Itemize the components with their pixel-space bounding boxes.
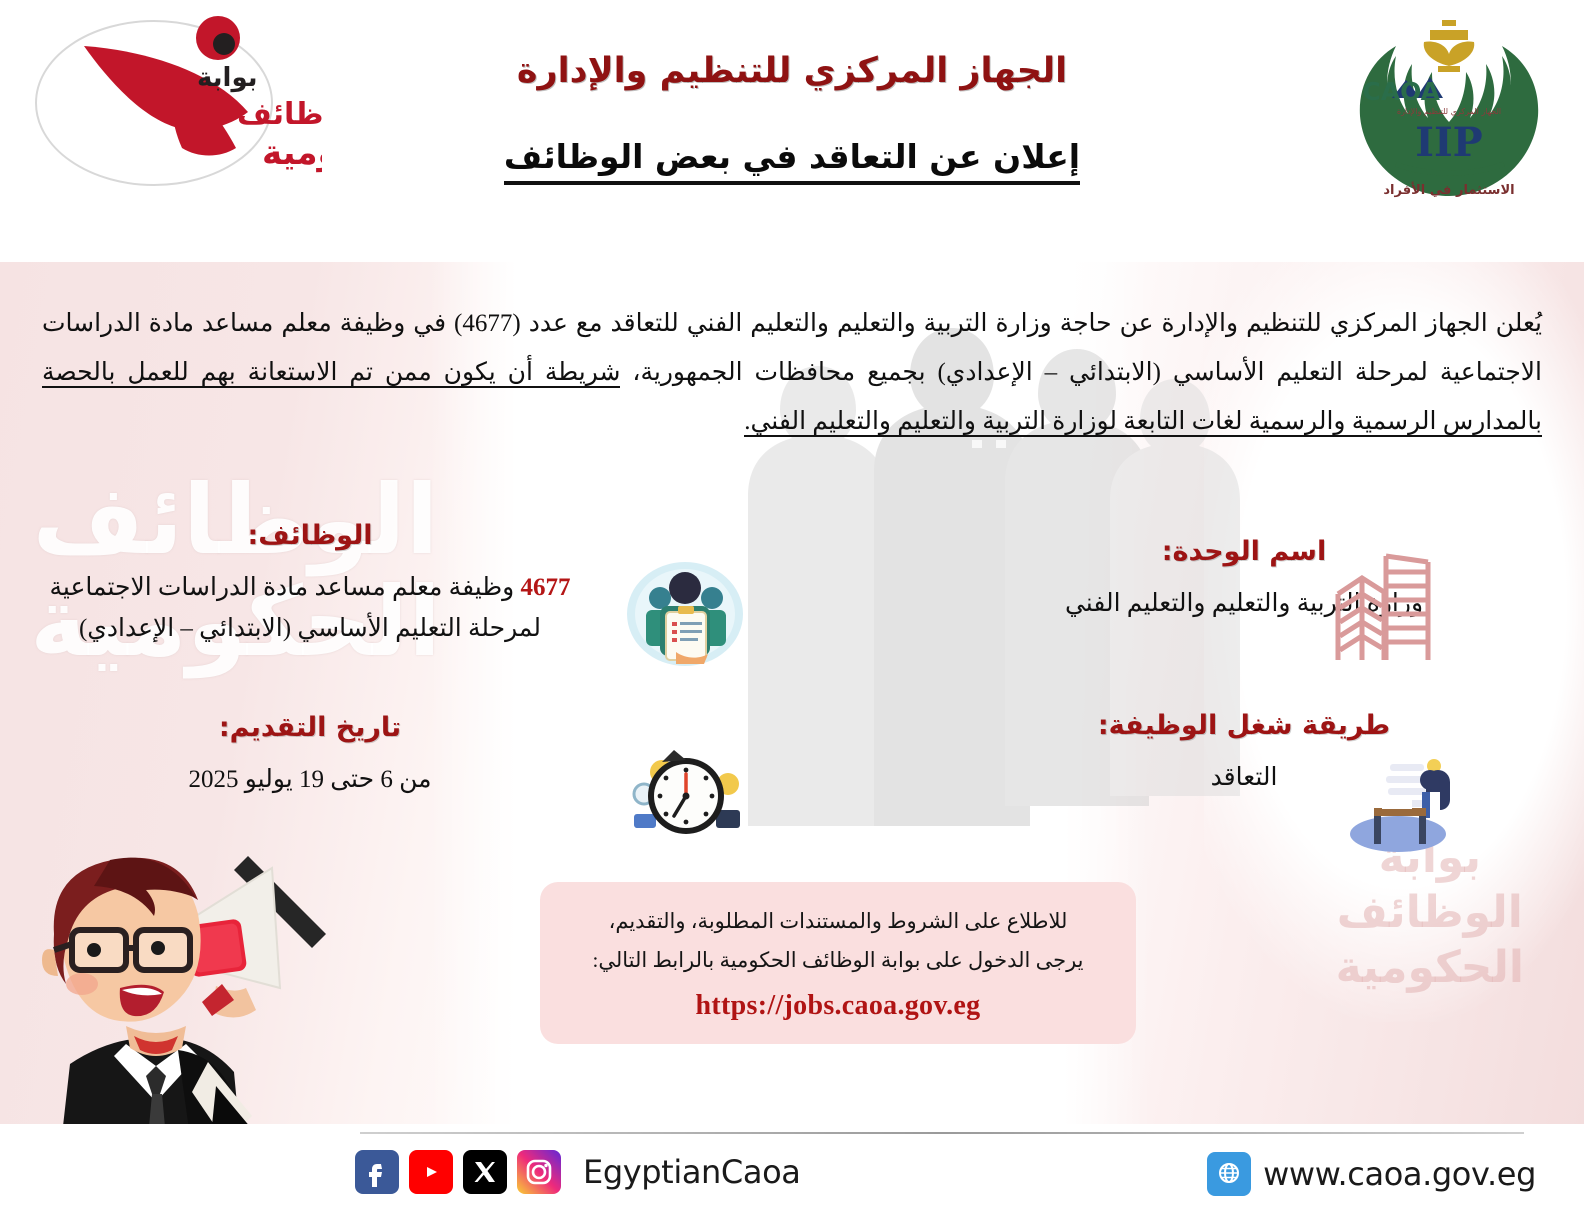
field-unit-name: اسم الوحدة: وزارة التربية والتعليم والتع… [964, 536, 1524, 624]
application-date-label: تاريخ التقديم: [30, 712, 590, 743]
callout-line-1: للاطلاع على الشروط والمستندات المطلوبة، … [566, 902, 1110, 941]
website-link[interactable]: www.caoa.gov.eg [1207, 1152, 1536, 1196]
svg-text:IIP: IIP [1415, 119, 1483, 166]
application-date-value: من 6 حتى 19 يوليو 2025 [30, 759, 590, 800]
svg-text:CAOA: CAOA [1362, 77, 1440, 106]
unit-name-value: وزارة التربية والتعليم والتعليم الفني [964, 583, 1524, 624]
poster-footer: EgyptianCaoa www.caoa.gov.eg [0, 1124, 1584, 1224]
application-info-callout: للاطلاع على الشروط والمستندات المطلوبة، … [540, 882, 1136, 1044]
social-links: EgyptianCaoa [355, 1150, 800, 1194]
jobs-description: وظيفة معلم مساعد مادة الدراسات الاجتماعي… [50, 574, 542, 642]
field-application-date: تاريخ التقديم: من 6 حتى 19 يوليو 2025 [30, 712, 590, 800]
building-icon [1328, 548, 1432, 666]
alarm-clock-icon [616, 732, 756, 854]
facebook-icon[interactable] [355, 1150, 399, 1194]
employment-method-label: طريقة شغل الوظيفة: [964, 710, 1524, 741]
jobs-value: 4677 وظيفة معلم مساعد مادة الدراسات الاج… [30, 567, 590, 650]
left-info-column: الوظائف: 4677 وظيفة معلم مساعد مادة الدر… [30, 520, 590, 830]
announcement-title: إعلان عن التعاقد في بعض الوظائف [504, 137, 1080, 185]
poster-header: بوابة الوظائف الحكومية الجهاز المركزي لل… [0, 0, 1584, 262]
jobs-count: 4677 [520, 574, 570, 601]
footer-divider [360, 1132, 1524, 1134]
svg-text:الاستثمار في الأفراد: الاستثمار في الأفراد [1383, 181, 1514, 198]
globe-icon [1207, 1152, 1251, 1196]
x-twitter-icon[interactable] [463, 1150, 507, 1194]
unit-name-label: اسم الوحدة: [964, 536, 1524, 567]
website-url: www.caoa.gov.eg [1263, 1155, 1536, 1193]
youtube-icon[interactable] [409, 1150, 453, 1194]
instagram-icon[interactable] [517, 1150, 561, 1194]
recruitment-people-icon [620, 558, 750, 670]
job-announcement-poster: الوظائف الحكومية بوابة الوظائف الحكومية [0, 0, 1584, 1224]
caoa-iip-logo: CAOA الجهاز المركزي للتنظيم والإدارة IIP… [1334, 10, 1564, 205]
intro-paragraph: يُعلن الجهاز المركزي للتنظيم والإدارة عن… [42, 300, 1542, 446]
field-jobs: الوظائف: 4677 وظيفة معلم مساعد مادة الدر… [30, 520, 590, 650]
person-at-desk-icon [1330, 742, 1466, 856]
application-url[interactable]: https://jobs.caoa.gov.eg [566, 990, 1110, 1022]
callout-line-2: يرجى الدخول على بوابة الوظائف الحكومية ب… [566, 941, 1110, 980]
jobs-label: الوظائف: [30, 520, 590, 551]
social-handle: EgyptianCaoa [583, 1153, 800, 1191]
svg-text:الجهاز المركزي للتنظيم والإدار: الجهاز المركزي للتنظيم والإدارة [1397, 107, 1501, 117]
